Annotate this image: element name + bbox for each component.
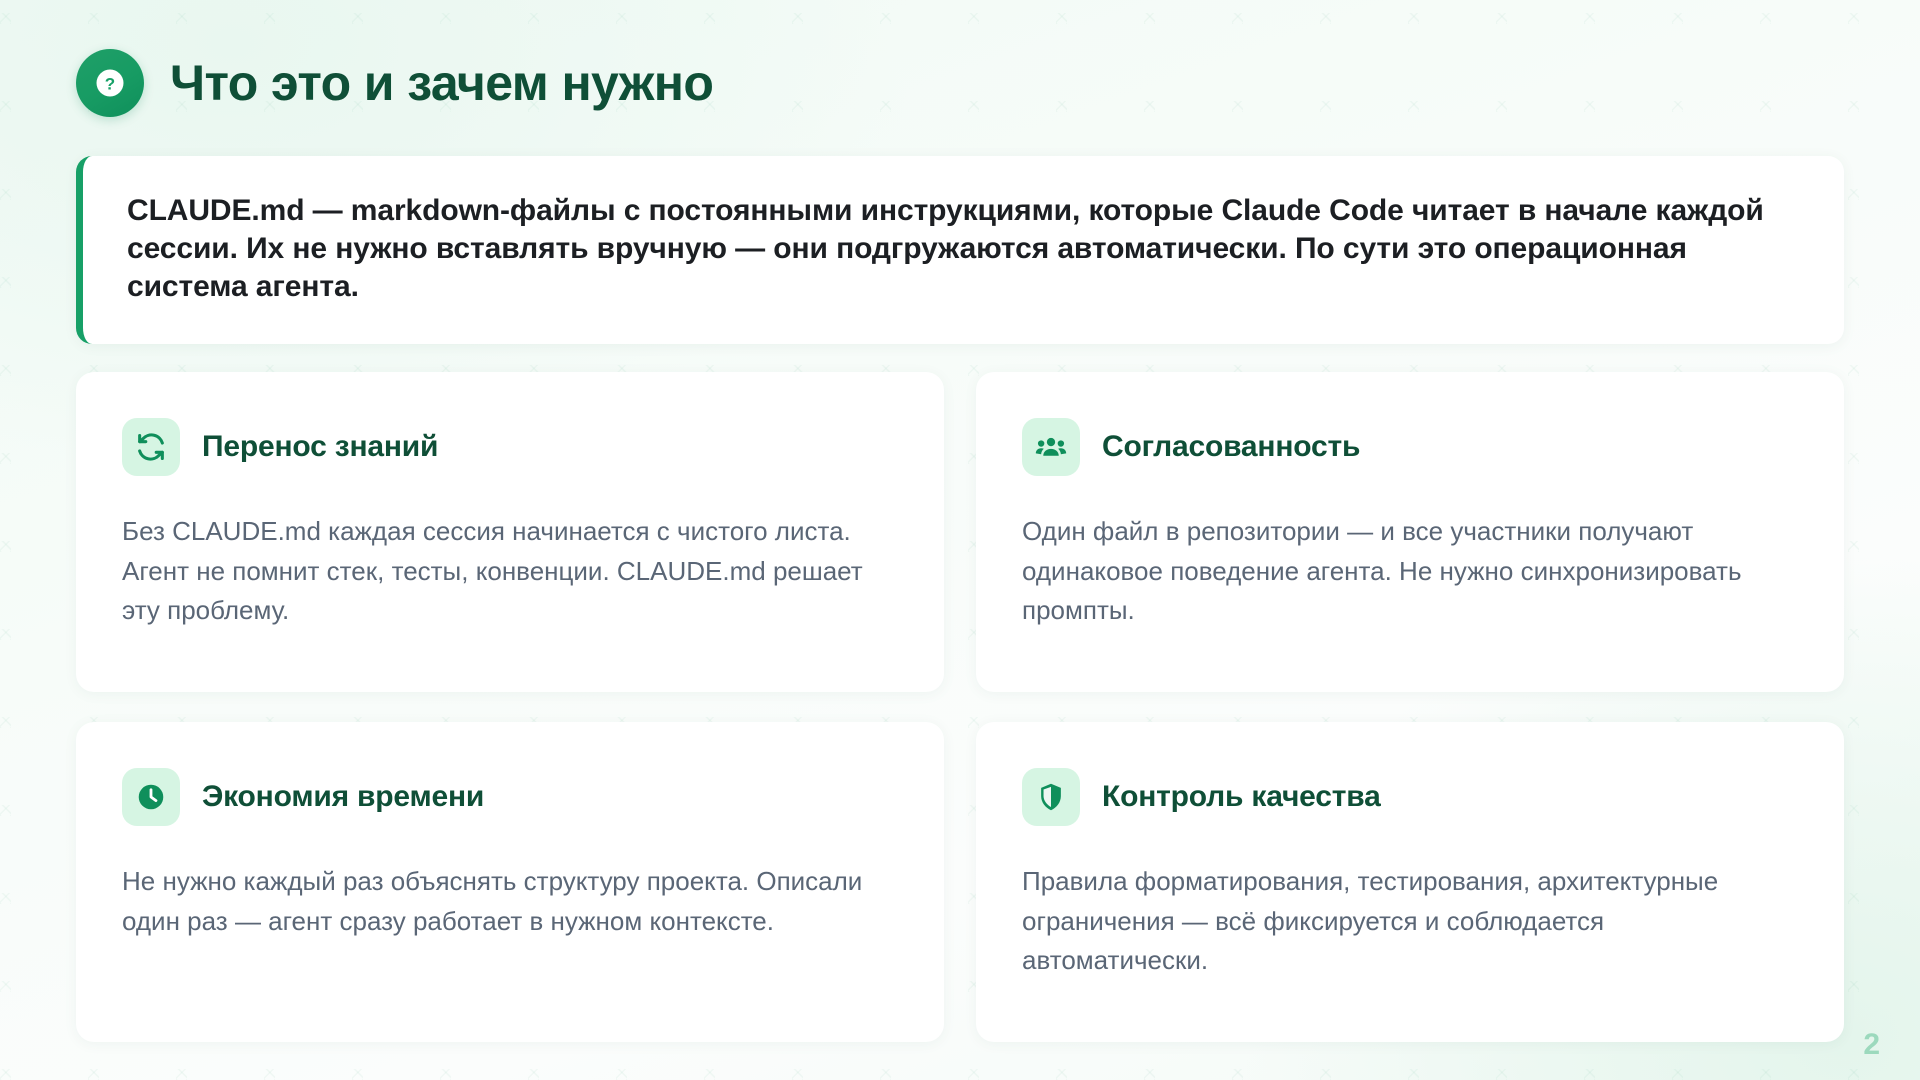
- sync-refresh-icon: [122, 418, 180, 476]
- svg-text:?: ?: [105, 75, 115, 94]
- card-quality-control: Контроль качества Правила форматирования…: [976, 722, 1844, 1042]
- page-title: Что это и зачем нужно: [170, 54, 713, 112]
- callout-text-tail: .: [351, 270, 359, 303]
- benefit-cards-grid: Перенос знаний Без CLAUDE.md каждая сесс…: [76, 372, 1844, 1042]
- people-group-icon: [1022, 418, 1080, 476]
- callout-text: CLAUDE.md — markdown-файлы с постоянными…: [127, 192, 1800, 306]
- card-body: Не нужно каждый раз объяснять структуру …: [122, 862, 896, 941]
- card-title: Согласованность: [1102, 430, 1360, 464]
- card-header: Перенос знаний: [122, 418, 896, 476]
- card-knowledge-transfer: Перенос знаний Без CLAUDE.md каждая сесс…: [76, 372, 944, 692]
- card-title: Экономия времени: [202, 780, 484, 814]
- card-body: Один файл в репозитории — и все участник…: [1022, 512, 1796, 631]
- card-title: Контроль качества: [1102, 780, 1381, 814]
- card-header: Согласованность: [1022, 418, 1796, 476]
- question-mark-icon: ?: [76, 49, 144, 117]
- card-header: Экономия времени: [122, 768, 896, 826]
- card-header: Контроль качества: [1022, 768, 1796, 826]
- card-title: Перенос знаний: [202, 430, 438, 464]
- definition-callout: CLAUDE.md — markdown-файлы с постоянными…: [76, 156, 1844, 344]
- shield-icon: [1022, 768, 1080, 826]
- card-consistency: Согласованность Один файл в репозитории …: [976, 372, 1844, 692]
- card-time-saving: Экономия времени Не нужно каждый раз объ…: [76, 722, 944, 1042]
- slide-header: ? Что это и зачем нужно: [76, 40, 1858, 126]
- clock-icon: [122, 768, 180, 826]
- page-number: 2: [1863, 1028, 1880, 1062]
- card-body: Без CLAUDE.md каждая сессия начинается с…: [122, 512, 896, 631]
- slide: ? Что это и зачем нужно CLAUDE.md — mark…: [0, 0, 1920, 1080]
- card-body: Правила форматирования, тестирования, ар…: [1022, 862, 1796, 981]
